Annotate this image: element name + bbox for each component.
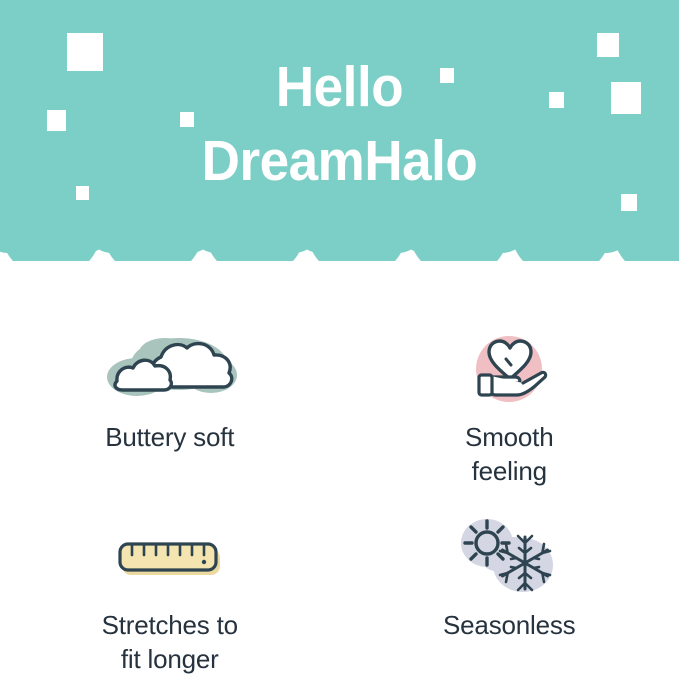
feature-item-seasonless: Seasonless — [340, 516, 679, 676]
page-title: Hello DreamHalo — [24, 50, 655, 198]
feature-grid: Buttery soft Smooth feeling — [0, 300, 679, 676]
feature-item-smooth-feeling: Smooth feeling — [340, 328, 679, 516]
feature-item-buttery-soft: Buttery soft — [0, 328, 340, 516]
feature-item-stretches-to-fit: Stretches to fit longer — [0, 516, 340, 676]
feature-row: Buttery soft Smooth feeling — [0, 328, 679, 516]
scalloped-edge — [0, 227, 679, 261]
feature-label: Seasonless — [443, 608, 575, 642]
feature-label: Smooth feeling — [465, 420, 553, 488]
feature-row: Stretches to fit longer — [0, 516, 679, 676]
product-feature-card: Hello DreamHalo — [0, 0, 679, 676]
cloud-icon — [95, 328, 245, 406]
sun-snowflake-icon — [455, 516, 563, 594]
feature-label: Buttery soft — [105, 420, 234, 454]
heart-in-hand-icon — [461, 328, 557, 406]
feature-label: Stretches to fit longer — [102, 608, 238, 676]
hero-banner: Hello DreamHalo — [0, 0, 679, 227]
ruler-icon — [114, 516, 226, 594]
